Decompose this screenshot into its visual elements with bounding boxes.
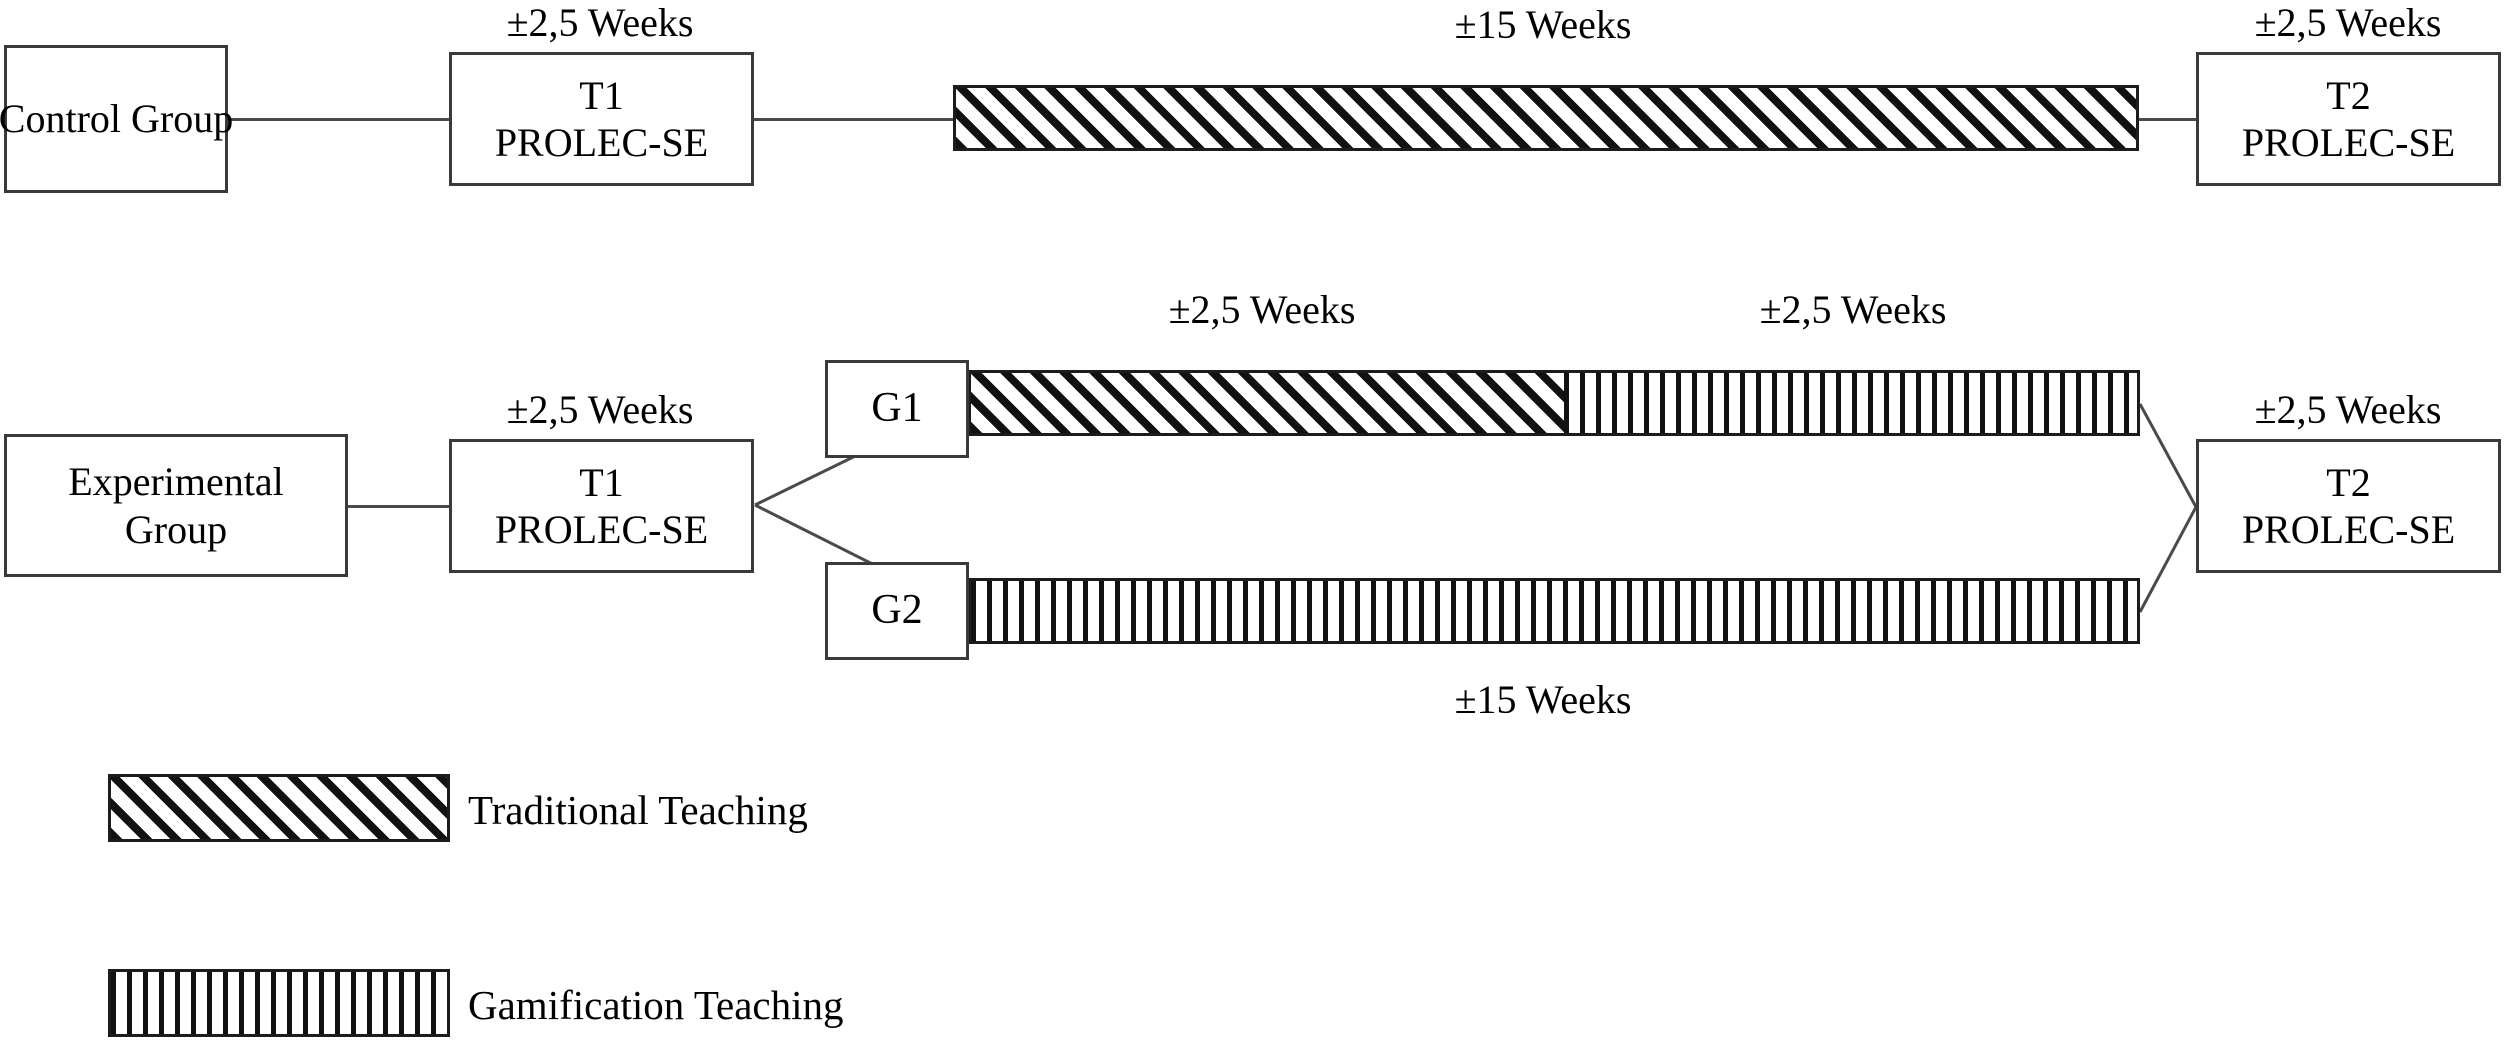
experimental-group-box[interactable]: Experimental Group [4,434,348,577]
experimental-group-line1: Experimental [68,458,283,505]
experimental-t2-line2: PROLEC-SE [2242,506,2455,553]
subgroup-g1-box[interactable]: G1 [825,360,969,458]
experimental-t1-prolec-se-box[interactable]: T1 PROLEC-SE [449,439,754,573]
converge-line-from-g2 [2140,507,2196,612]
legend-label-traditional-teaching: Traditional Teaching [468,790,808,831]
g2-intervention-duration-label: ±15 Weeks [1455,680,1632,720]
study-design-diagram: Control Group ±2,5 Weeks T1 PROLEC-SE ±1… [0,0,2507,1054]
legend-swatch-traditional-teaching [108,774,450,842]
control-group-box[interactable]: Control Group [4,45,228,193]
converge-line-from-g1 [2140,404,2196,507]
g1-gamification-phase-duration-label: ±2,5 Weeks [1760,290,1947,330]
converge-lines-subgroups-to-t2 [2138,390,2198,625]
control-t2-line1: T2 [2326,72,2370,119]
control-posttest-duration-label: ±2,5 Weeks [2255,3,2442,43]
connector-control-intervention-bar-to-t2 [2138,118,2198,121]
subgroup-g2-box[interactable]: G2 [825,562,969,660]
subgroup-g1-label: G1 [871,384,922,434]
experimental-group-line2: Group [125,506,227,553]
control-intervention-duration-label: ±15 Weeks [1455,5,1632,45]
control-traditional-teaching-bar [953,85,2139,151]
control-t2-line2: PROLEC-SE [2242,119,2455,166]
legend-label-gamification-teaching: Gamification Teaching [468,985,844,1026]
experimental-pretest-duration-label: ±2,5 Weeks [507,390,694,430]
control-t2-prolec-se-box[interactable]: T2 PROLEC-SE [2196,52,2501,186]
connector-experimental-group-to-t1 [348,505,451,508]
control-t1-line1: T1 [579,72,623,119]
g1-intervention-bar [968,370,2140,436]
control-t1-prolec-se-box[interactable]: T1 PROLEC-SE [449,52,754,186]
g1-traditional-teaching-segment [971,373,1564,433]
g1-traditional-phase-duration-label: ±2,5 Weeks [1169,290,1356,330]
experimental-t1-line1: T1 [579,459,623,506]
control-pretest-duration-label: ±2,5 Weeks [507,3,694,43]
experimental-t2-line1: T2 [2326,459,2370,506]
control-t1-line2: PROLEC-SE [495,119,708,166]
g2-gamification-teaching-bar [968,578,2140,644]
subgroup-g2-label: G2 [871,586,922,636]
connector-control-group-to-t1 [228,118,459,121]
experimental-t2-prolec-se-box[interactable]: T2 PROLEC-SE [2196,439,2501,573]
experimental-posttest-duration-label: ±2,5 Weeks [2255,390,2442,430]
experimental-t1-line2: PROLEC-SE [495,506,708,553]
control-group-box-label: Control Group [0,95,233,142]
connector-control-t1-to-intervention-bar [753,118,955,121]
legend-swatch-gamification-teaching [108,969,450,1037]
g1-gamification-teaching-segment [1564,373,2137,433]
